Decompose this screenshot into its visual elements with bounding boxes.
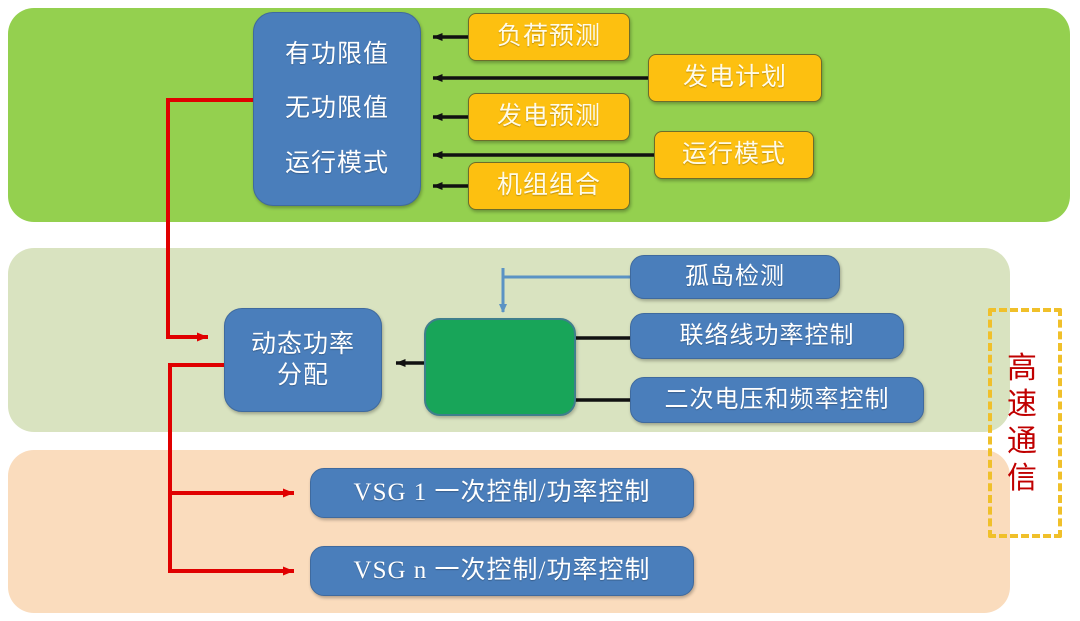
dynamic-power-allocation-line-1: 动态功率: [251, 329, 355, 360]
node-load-forecast[interactable]: 负荷预测: [468, 13, 630, 61]
node-secondary-voltage-frequency-control[interactable]: 二次电压和频率控制: [630, 377, 924, 423]
node-tie-line-power-control[interactable]: 联络线功率控制: [630, 313, 904, 359]
hub-limits[interactable]: 有功限值 无功限值 运行模式: [253, 12, 421, 206]
node-island-detection[interactable]: 孤岛检测: [630, 255, 840, 299]
mode-switch-box[interactable]: [424, 318, 576, 416]
hub-limits-line-reactive-power: 无功限值: [285, 93, 389, 124]
hub-limits-line-operating-mode: 运行模式: [285, 148, 389, 179]
node-generation-plan[interactable]: 发电计划: [648, 54, 822, 102]
node-generation-forecast[interactable]: 发电预测: [468, 93, 630, 141]
node-unit-commitment[interactable]: 机组组合: [468, 162, 630, 210]
diagram-canvas: 有功限值 无功限值 运行模式 负荷预测 发电计划 发电预测 运行模式 机组组合 …: [0, 0, 1080, 621]
hub-limits-line-active-power: 有功限值: [285, 39, 389, 70]
dynamic-power-allocation-line-2: 分配: [277, 360, 329, 391]
high-speed-communication-label: 高 速 通 信: [992, 318, 1052, 530]
comm-char-3: 通: [1007, 424, 1037, 461]
node-vsg-n[interactable]: VSG n 一次控制/功率控制: [310, 546, 694, 596]
comm-char-4: 信: [1007, 461, 1037, 498]
node-dynamic-power-allocation[interactable]: 动态功率 分配: [224, 308, 382, 412]
node-vsg-1[interactable]: VSG 1 一次控制/功率控制: [310, 468, 694, 518]
comm-char-1: 高: [1007, 351, 1037, 388]
node-operating-mode[interactable]: 运行模式: [654, 131, 814, 179]
comm-char-2: 速: [1007, 387, 1037, 424]
